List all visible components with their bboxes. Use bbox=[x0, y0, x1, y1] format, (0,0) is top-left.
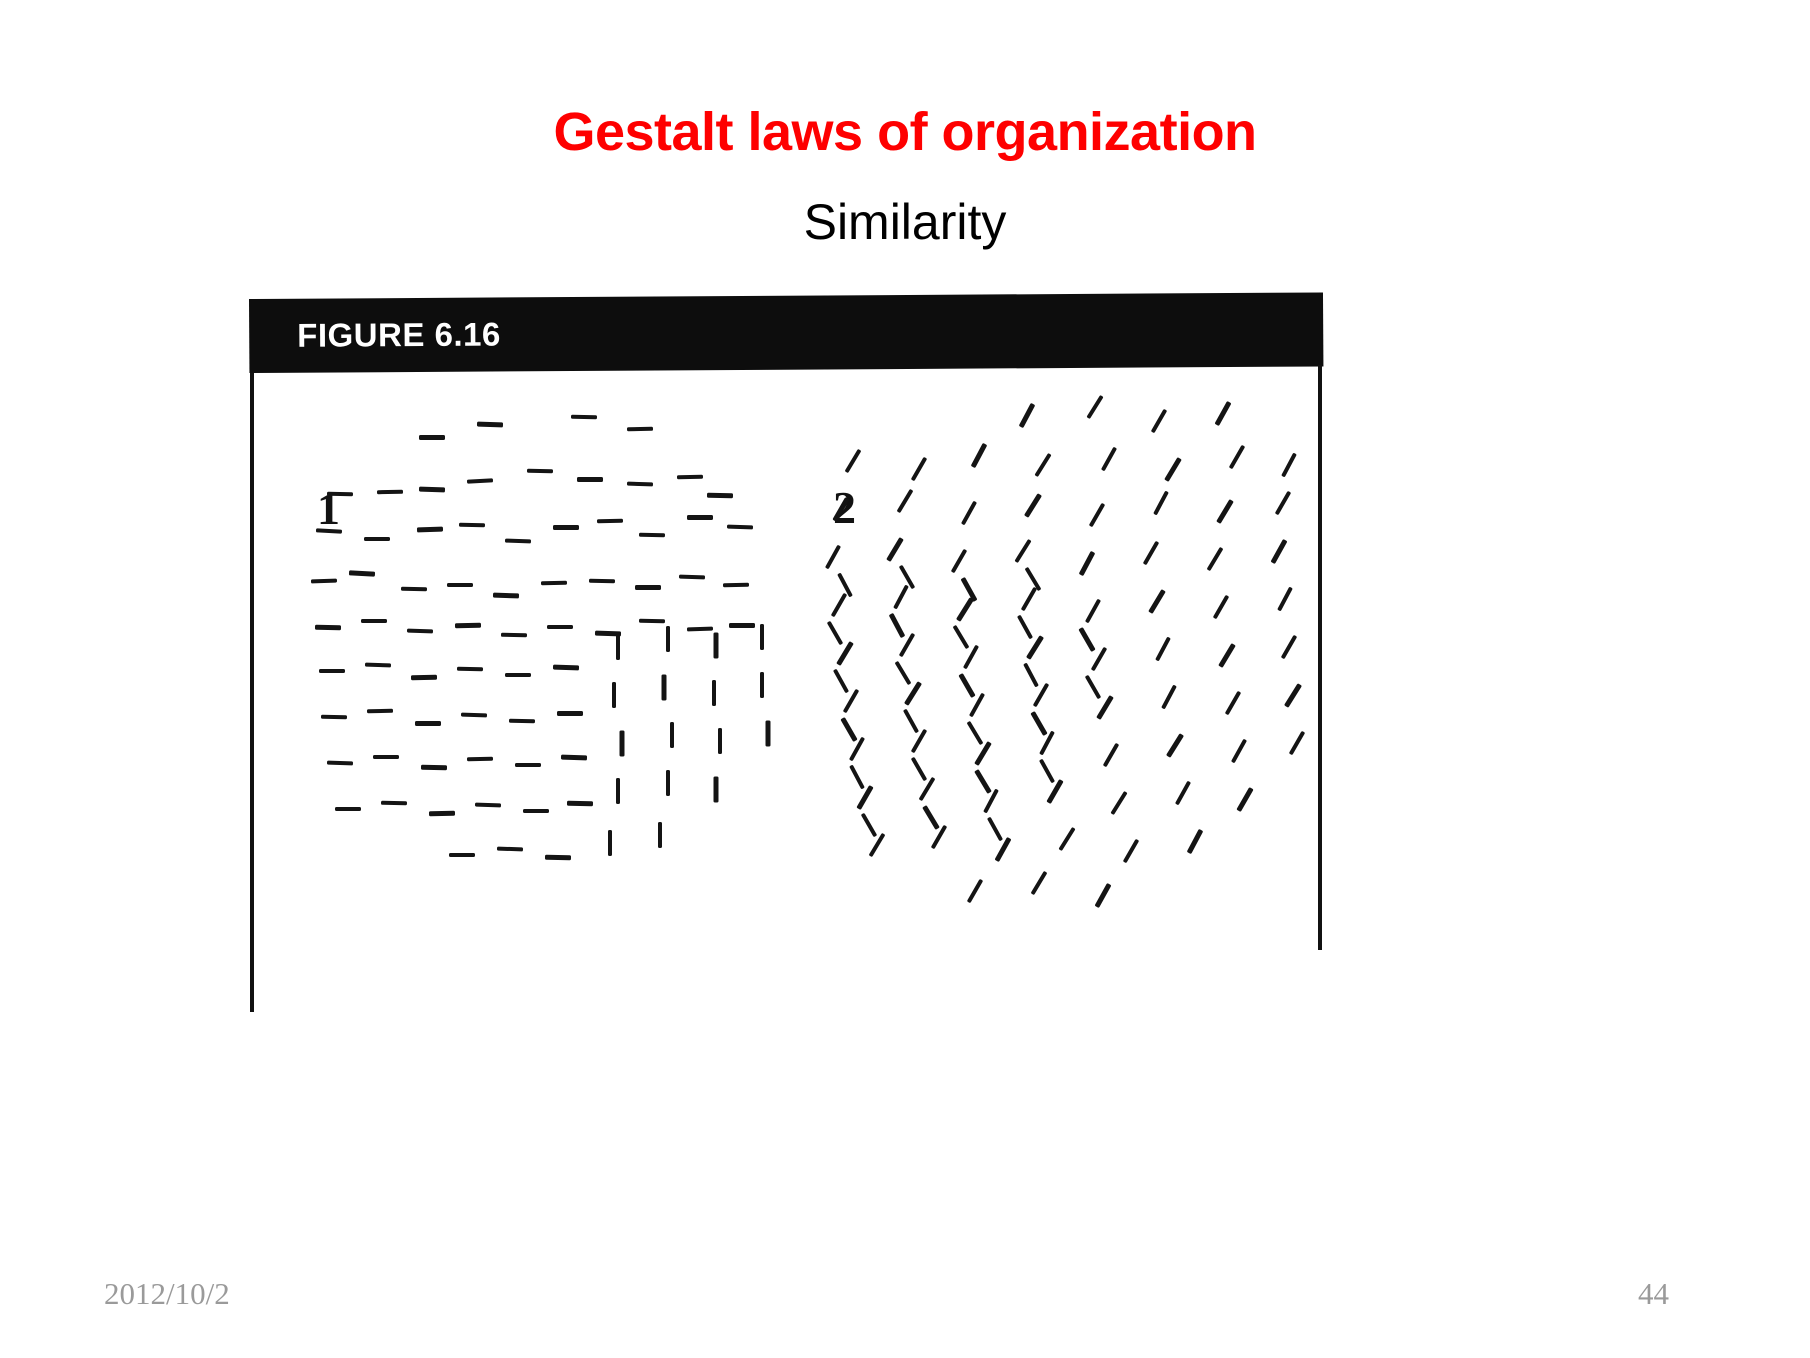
texture-line-segment bbox=[497, 847, 523, 852]
texture-line-segment bbox=[1023, 663, 1039, 688]
texture-line-segment bbox=[567, 801, 593, 806]
texture-line-segment bbox=[825, 545, 841, 570]
texture-line-segment bbox=[553, 665, 579, 671]
texture-line-segment bbox=[714, 633, 719, 659]
texture-line-segment bbox=[827, 621, 843, 646]
texture-line-segment bbox=[577, 477, 603, 482]
texture-line-segment bbox=[856, 785, 873, 810]
texture-line-segment bbox=[449, 853, 475, 857]
texture-line-segment bbox=[911, 729, 927, 754]
texture-line-segment bbox=[1148, 589, 1166, 614]
texture-line-segment bbox=[840, 717, 857, 742]
texture-line-segment bbox=[315, 625, 341, 630]
texture-line-segment bbox=[1277, 587, 1293, 612]
texture-line-segment bbox=[886, 537, 904, 562]
texture-line-segment bbox=[1289, 731, 1305, 756]
texture-line-segment bbox=[723, 583, 749, 587]
page-title: Gestalt laws of organization bbox=[0, 105, 1810, 159]
texture-line-segment bbox=[967, 879, 983, 904]
texture-line-segment bbox=[849, 765, 865, 790]
texture-line-segment bbox=[1034, 453, 1051, 477]
texture-line-segment bbox=[327, 761, 353, 766]
texture-line-segment bbox=[501, 633, 527, 637]
texture-line-segment bbox=[1164, 457, 1182, 482]
texture-line-segment bbox=[335, 807, 361, 811]
texture-line-segment bbox=[727, 525, 753, 530]
texture-line-segment bbox=[1281, 453, 1297, 478]
texture-line-segment bbox=[1030, 711, 1047, 736]
texture-line-segment bbox=[987, 817, 1003, 842]
texture-line-segment bbox=[475, 803, 501, 808]
texture-line-segment bbox=[1166, 733, 1184, 758]
texture-line-segment bbox=[895, 661, 912, 685]
texture-line-segment bbox=[367, 709, 393, 713]
texture-line-segment bbox=[961, 501, 977, 526]
texture-line-segment bbox=[467, 478, 493, 483]
texture-line-segment bbox=[1143, 541, 1159, 566]
texture-panel-1 bbox=[309, 397, 809, 957]
texture-line-segment bbox=[845, 449, 862, 473]
texture-line-segment bbox=[687, 627, 713, 632]
texture-line-segment bbox=[381, 801, 407, 805]
texture-line-segment bbox=[1078, 627, 1095, 652]
texture-line-segment bbox=[931, 825, 947, 850]
texture-line-segment bbox=[974, 741, 992, 766]
texture-line-segment bbox=[1187, 829, 1204, 854]
texture-line-segment bbox=[616, 634, 620, 660]
texture-line-segment bbox=[1175, 781, 1191, 806]
texture-line-segment bbox=[415, 721, 441, 726]
texture-line-segment bbox=[509, 719, 535, 723]
texture-line-segment bbox=[1058, 827, 1075, 851]
texture-line-segment bbox=[419, 487, 445, 493]
texture-line-segment bbox=[687, 515, 713, 520]
texture-line-segment bbox=[1103, 743, 1119, 768]
texture-line-segment bbox=[718, 728, 722, 754]
texture-line-segment bbox=[974, 769, 992, 794]
texture-line-segment bbox=[327, 492, 353, 496]
texture-line-segment bbox=[953, 625, 970, 649]
texture-line-segment bbox=[679, 575, 705, 580]
texture-line-segment bbox=[666, 770, 670, 796]
texture-line-segment bbox=[459, 523, 485, 527]
texture-line-segment bbox=[707, 493, 733, 498]
texture-line-segment bbox=[461, 713, 487, 718]
texture-line-segment bbox=[457, 667, 483, 671]
texture-line-segment bbox=[677, 475, 703, 479]
texture-line-segment bbox=[447, 583, 473, 587]
texture-line-segment bbox=[1021, 587, 1037, 612]
texture-line-segment bbox=[419, 435, 445, 440]
texture-line-segment bbox=[467, 757, 493, 761]
texture-line-segment bbox=[1039, 759, 1055, 784]
texture-line-segment bbox=[1095, 883, 1112, 908]
texture-line-segment bbox=[967, 721, 984, 745]
texture-line-segment bbox=[557, 711, 583, 716]
texture-line-segment bbox=[1281, 635, 1297, 660]
texture-line-segment bbox=[903, 709, 919, 734]
texture-line-segment bbox=[1085, 675, 1101, 700]
texture-line-segment bbox=[561, 755, 587, 761]
texture-line-segment bbox=[1215, 401, 1232, 426]
texture-line-segment bbox=[523, 809, 549, 813]
texture-line-segment bbox=[1213, 595, 1229, 620]
texture-line-segment bbox=[477, 422, 503, 428]
texture-line-segment bbox=[365, 663, 391, 668]
texture-line-segment bbox=[1086, 395, 1103, 419]
texture-line-segment bbox=[505, 539, 531, 544]
texture-line-segment bbox=[861, 813, 877, 838]
texture-line-segment bbox=[1089, 503, 1105, 528]
texture-line-segment bbox=[1236, 787, 1253, 812]
texture-panel-2 bbox=[814, 397, 1314, 957]
texture-line-segment bbox=[1110, 791, 1127, 815]
texture-line-segment bbox=[1079, 551, 1096, 576]
texture-line-segment bbox=[1207, 547, 1224, 571]
texture-line-segment bbox=[832, 497, 849, 522]
texture-line-segment bbox=[1101, 447, 1117, 472]
texture-line-segment bbox=[995, 837, 1012, 862]
texture-line-segment bbox=[1031, 871, 1048, 895]
texture-line-segment bbox=[1229, 445, 1245, 470]
texture-line-segment bbox=[364, 537, 390, 541]
texture-line-segment bbox=[1046, 779, 1063, 804]
texture-line-segment bbox=[662, 675, 667, 701]
texture-line-segment bbox=[831, 593, 847, 618]
texture-line-segment bbox=[760, 672, 764, 698]
texture-line-segment bbox=[1225, 691, 1241, 716]
texture-line-segment bbox=[1161, 685, 1177, 710]
texture-line-segment bbox=[911, 757, 927, 782]
texture-line-segment bbox=[1123, 839, 1139, 864]
figure-banner: FIGURE 6.16 bbox=[249, 292, 1323, 373]
texture-line-segment bbox=[616, 778, 620, 804]
texture-line-segment bbox=[1024, 493, 1042, 518]
texture-line-segment bbox=[760, 624, 764, 650]
texture-line-segment bbox=[897, 489, 914, 513]
texture-line-segment bbox=[547, 625, 573, 629]
texture-line-segment bbox=[849, 737, 865, 762]
texture-line-segment bbox=[766, 721, 771, 747]
figure-left-border bbox=[250, 373, 254, 1012]
texture-line-segment bbox=[1085, 599, 1101, 624]
texture-line-segment bbox=[455, 623, 481, 628]
texture-line-segment bbox=[417, 527, 443, 533]
texture-line-segment bbox=[1231, 739, 1247, 764]
texture-line-segment bbox=[553, 525, 579, 530]
texture-line-segment bbox=[373, 755, 399, 759]
texture-line-segment bbox=[729, 623, 755, 628]
texture-line-segment bbox=[571, 415, 597, 419]
texture-line-segment bbox=[545, 855, 571, 860]
texture-line-segment bbox=[1017, 615, 1033, 640]
texture-line-segment bbox=[541, 581, 567, 585]
texture-line-segment bbox=[919, 777, 936, 801]
page-subtitle: Similarity bbox=[0, 197, 1810, 247]
texture-line-segment bbox=[1153, 491, 1169, 516]
texture-line-segment bbox=[1019, 403, 1036, 428]
texture-line-segment bbox=[411, 675, 437, 680]
texture-line-segment bbox=[639, 619, 665, 623]
texture-line-segment bbox=[639, 533, 665, 537]
texture-line-segment bbox=[956, 597, 974, 622]
texture-line-segment bbox=[951, 549, 967, 574]
texture-line-segment bbox=[407, 629, 433, 634]
texture-line-segment bbox=[377, 490, 403, 494]
texture-line-segment bbox=[311, 579, 337, 584]
texture-line-segment bbox=[904, 681, 922, 706]
texture-line-segment bbox=[349, 570, 375, 576]
texture-line-segment bbox=[1014, 539, 1031, 563]
texture-line-segment bbox=[493, 593, 519, 599]
texture-line-segment bbox=[620, 731, 625, 757]
texture-line-segment bbox=[627, 427, 653, 431]
texture-line-segment bbox=[361, 619, 387, 623]
footer-page-number: 44 bbox=[1638, 1276, 1669, 1312]
texture-line-segment bbox=[597, 519, 623, 523]
texture-line-segment bbox=[666, 626, 670, 652]
texture-line-segment bbox=[889, 613, 906, 638]
texture-line-segment bbox=[319, 669, 345, 673]
texture-line-segment bbox=[714, 777, 719, 803]
texture-line-segment bbox=[922, 805, 940, 830]
figure-caption-label: FIGURE 6.16 bbox=[297, 315, 501, 354]
texture-line-segment bbox=[589, 579, 615, 583]
texture-line-segment bbox=[712, 680, 716, 706]
texture-line-segment bbox=[658, 822, 662, 848]
texture-line-segment bbox=[316, 528, 342, 533]
texture-line-segment bbox=[1155, 637, 1171, 662]
texture-line-segment bbox=[608, 830, 612, 856]
texture-line-segment bbox=[1151, 409, 1167, 434]
texture-line-segment bbox=[505, 673, 531, 677]
texture-line-segment bbox=[429, 811, 455, 816]
figure-scan-image: FIGURE 6.16 1 2 bbox=[249, 299, 1323, 1012]
texture-line-segment bbox=[612, 682, 616, 708]
texture-line-segment bbox=[401, 587, 427, 591]
texture-line-segment bbox=[869, 833, 886, 857]
texture-line-segment bbox=[893, 585, 909, 610]
texture-line-segment bbox=[527, 469, 553, 473]
figure-right-border bbox=[1318, 365, 1322, 950]
texture-line-segment bbox=[321, 715, 347, 719]
texture-line-segment bbox=[1284, 683, 1302, 708]
texture-line-segment bbox=[983, 789, 999, 814]
texture-line-segment bbox=[421, 765, 447, 770]
texture-line-segment bbox=[515, 763, 541, 767]
texture-line-segment bbox=[1096, 695, 1114, 720]
texture-line-segment bbox=[1216, 499, 1234, 524]
texture-line-segment bbox=[1271, 539, 1288, 564]
footer-date: 2012/10/2 bbox=[104, 1276, 230, 1312]
texture-line-segment bbox=[971, 443, 988, 468]
texture-line-segment bbox=[958, 673, 975, 698]
texture-line-segment bbox=[1275, 491, 1291, 516]
texture-line-segment bbox=[1218, 643, 1236, 668]
texture-line-segment bbox=[670, 722, 674, 748]
texture-line-segment bbox=[911, 457, 927, 482]
texture-line-segment bbox=[833, 669, 849, 694]
texture-line-segment bbox=[627, 482, 653, 487]
texture-line-segment bbox=[635, 585, 661, 590]
